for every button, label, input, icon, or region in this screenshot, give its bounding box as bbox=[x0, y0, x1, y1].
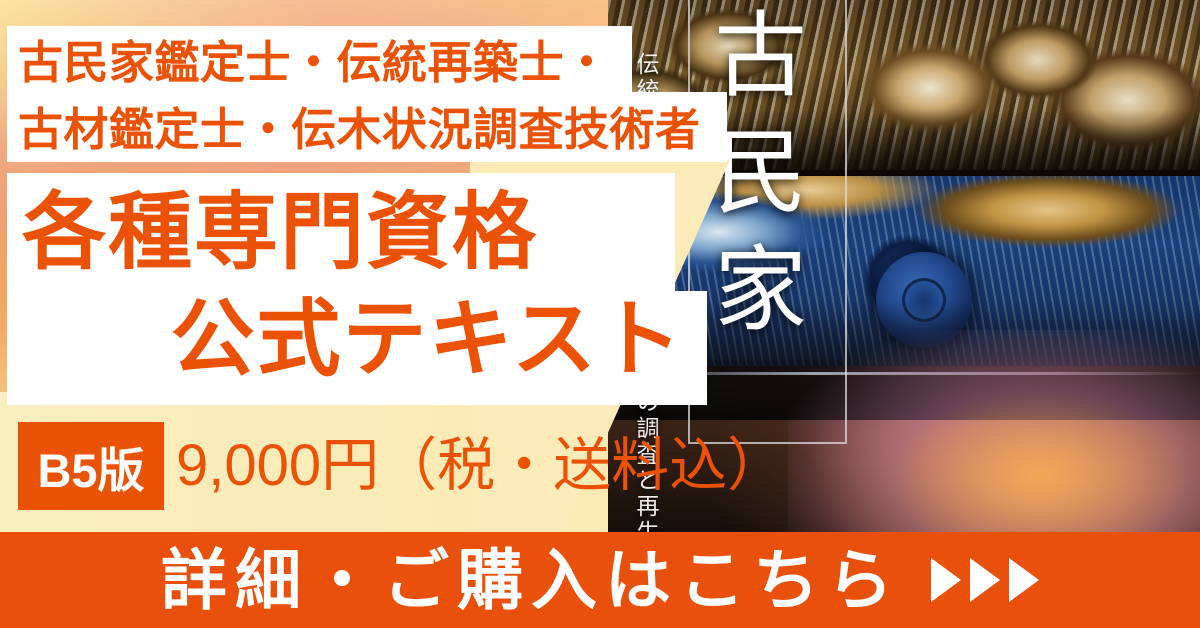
promo-banner: 古民家 伝統構法 古民家活用のための調査と再生の 古民家鑑定士・伝統再築士・ 古… bbox=[0, 0, 1200, 628]
main-headline: 各種専門資格 公式テキスト bbox=[22, 180, 702, 394]
size-badge: B5版 bbox=[18, 422, 164, 510]
cta-bar[interactable]: 詳細・ご購入はこちら bbox=[0, 532, 1200, 628]
price-text: 9,000円（税・送料込） bbox=[176, 424, 785, 508]
subtitle-line-2: 古材鑑定士・伝木状況調査技術者 bbox=[18, 96, 718, 163]
photo-warm-glow bbox=[788, 330, 1200, 532]
subtitle-line-1: 古民家鑑定士・伝統再築士・ bbox=[18, 37, 610, 88]
cta-arrow-group bbox=[931, 558, 1039, 602]
play-triangle-icon-2 bbox=[970, 558, 1000, 602]
play-triangle-icon-3 bbox=[1009, 558, 1039, 602]
headline-line-2: 公式テキスト bbox=[22, 284, 702, 394]
qualification-subtitle: 古民家鑑定士・伝統再築士・ 古材鑑定士・伝木状況調査技術者 bbox=[18, 29, 718, 163]
play-triangle-icon-1 bbox=[931, 558, 961, 602]
cta-label: 詳細・ご購入はこちら bbox=[161, 547, 901, 613]
headline-line-1: 各種専門資格 bbox=[22, 180, 702, 284]
